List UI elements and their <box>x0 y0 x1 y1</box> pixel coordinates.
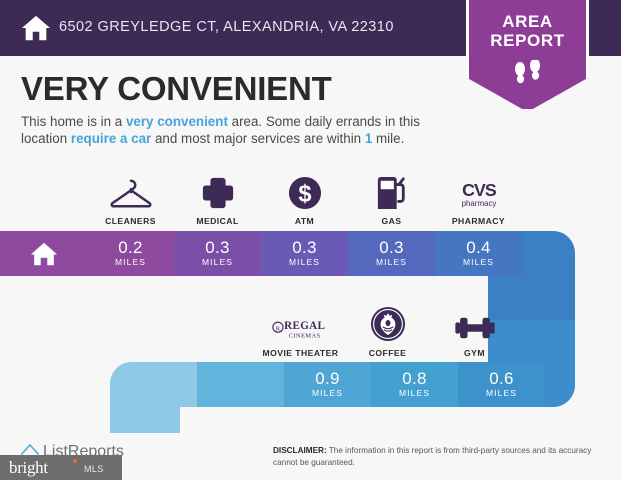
home-marker-cell <box>0 231 87 276</box>
category-cell-movie-theater: R REGAL CINEMAS MOVIE THEATER <box>257 300 344 358</box>
starbucks-logo <box>370 300 406 342</box>
svg-text:R: R <box>275 325 280 332</box>
distance-cell-medical: 0.3 MILES <box>174 231 261 276</box>
medical-cross-icon <box>201 168 235 210</box>
badge-line-2: REPORT <box>490 31 564 50</box>
distance-cell-pharmacy: 0.4 MILES <box>435 231 522 276</box>
category-label: MEDICAL <box>196 216 238 226</box>
cvs-pharmacy-logo: CVS pharmacy <box>451 168 507 210</box>
category-label: ATM <box>295 216 314 226</box>
category-label: MOVIE THEATER <box>263 348 339 358</box>
distance-unit: MILES <box>399 388 430 399</box>
property-address: 6502 GREYLEDGE CT, ALEXANDRIA, VA 22310 <box>59 19 394 35</box>
distance-bar-row-1: 0.2 MILES 0.3 MILES 0.3 MILES 0.3 MILES … <box>0 231 575 276</box>
category-label: CLEANERS <box>105 216 156 226</box>
brightmls-wordmark: bright <box>9 458 48 478</box>
badge-title: AREA REPORT <box>469 12 586 50</box>
distance-bar-row-2: 0.9 MILES 0.8 MILES 0.6 MILES <box>110 362 575 407</box>
intro-part-3: and most major services are within <box>151 131 365 146</box>
dollar-coin-icon: $ <box>288 168 322 210</box>
intro-highlight-2: require a car <box>71 131 151 146</box>
distance-unit: MILES <box>376 257 407 268</box>
gas-pump-icon <box>376 168 408 210</box>
distance-cell-spacer-2 <box>197 362 284 407</box>
distance-unit: MILES <box>289 257 320 268</box>
category-cell-gym: GYM <box>431 300 518 358</box>
area-report-badge: AREA REPORT <box>466 0 589 112</box>
svg-text:pharmacy: pharmacy <box>461 199 496 208</box>
svg-text:CVS: CVS <box>462 180 497 200</box>
distance-value: 0.4 <box>466 239 491 257</box>
category-label: PHARMACY <box>452 216 505 226</box>
regal-cinemas-logo: R REGAL CINEMAS <box>271 300 331 342</box>
intro-part-4: mile. <box>372 131 404 146</box>
intro-part-1: This home is in a <box>21 114 126 129</box>
category-label: COFFEE <box>369 348 407 358</box>
brightmls-sublabel: MLS <box>84 464 104 474</box>
distance-unit: MILES <box>486 388 517 399</box>
category-icon-row-2: R REGAL CINEMAS MOVIE THEATER COFFEE <box>257 300 518 358</box>
distance-cell-atm: 0.3 MILES <box>261 231 348 276</box>
distance-value: 0.8 <box>402 370 427 388</box>
category-cell-pharmacy: CVS pharmacy PHARMACY <box>435 168 522 226</box>
category-cell-cleaners: CLEANERS <box>87 168 174 226</box>
page-title: VERY CONVENIENT <box>21 70 332 108</box>
svg-text:CINEMAS: CINEMAS <box>288 332 320 339</box>
svg-text:REGAL: REGAL <box>284 320 325 332</box>
distance-unit: MILES <box>115 257 146 268</box>
distance-cell-movie-theater: 0.9 MILES <box>284 362 371 407</box>
intro-highlight-1: very convenient <box>126 114 228 129</box>
badge-line-1: AREA <box>502 12 553 31</box>
distance-unit: MILES <box>202 257 233 268</box>
brightmls-accent-dot <box>73 459 77 463</box>
disclaimer-label: DISCLAIMER: <box>273 446 327 455</box>
category-label: GAS <box>382 216 402 226</box>
distance-cell-gas: 0.3 MILES <box>348 231 435 276</box>
distance-value: 0.9 <box>315 370 340 388</box>
clothes-hanger-icon <box>109 168 153 210</box>
category-cell-medical: MEDICAL <box>174 168 261 226</box>
category-cell-coffee: COFFEE <box>344 300 431 358</box>
distance-cell-spacer-left <box>110 362 197 407</box>
disclaimer-text: DISCLAIMER: The information in this repo… <box>273 445 598 468</box>
svg-text:$: $ <box>298 182 311 208</box>
distance-cell-cleaners: 0.2 MILES <box>87 231 174 276</box>
category-cell-atm: $ ATM <box>261 168 348 226</box>
distance-cell-coffee: 0.8 MILES <box>371 362 458 407</box>
dumbbell-icon <box>453 300 497 342</box>
distance-value: 0.2 <box>118 239 143 257</box>
distance-value: 0.3 <box>205 239 230 257</box>
distance-value: 0.3 <box>379 239 404 257</box>
distance-value: 0.3 <box>292 239 317 257</box>
intro-paragraph: This home is in a very convenient area. … <box>21 113 446 147</box>
distance-cell-gym: 0.6 MILES <box>458 362 545 407</box>
category-label: GYM <box>464 348 485 358</box>
footprints-icon <box>511 60 545 90</box>
home-icon <box>21 13 51 43</box>
distance-value: 0.6 <box>489 370 514 388</box>
category-cell-gas: GAS <box>348 168 435 226</box>
category-icon-row-1: CLEANERS MEDICAL $ ATM GAS <box>87 168 522 226</box>
distance-unit: MILES <box>312 388 343 399</box>
distance-unit: MILES <box>463 257 494 268</box>
